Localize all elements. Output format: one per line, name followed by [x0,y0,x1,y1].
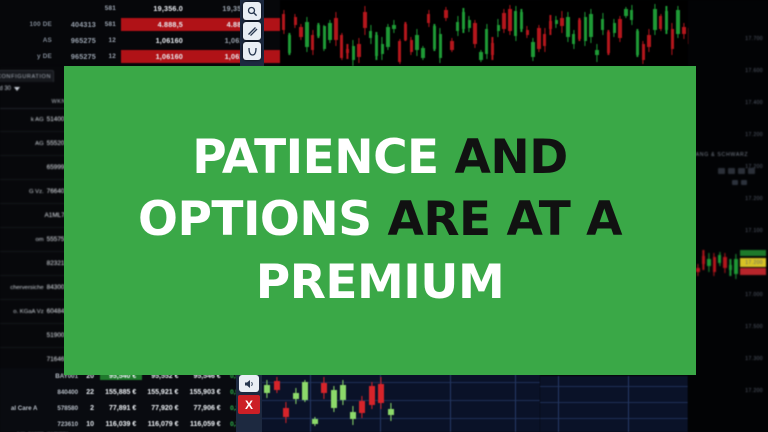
candlestick [636,29,639,57]
panel-icon[interactable] [728,168,735,174]
bottom-candlestick-chart[interactable] [250,368,540,432]
candlestick [363,6,366,34]
row-qty: 581 [100,5,121,12]
candlestick [404,22,407,41]
candlestick [456,16,459,36]
candlestick [647,29,650,52]
candlestick [537,25,540,52]
gridline [540,402,688,403]
row-ask: 116,079 € [142,421,184,428]
candlestick [479,50,482,63]
candlestick [578,18,581,41]
list-item[interactable]: 519000 [0,324,72,348]
row-ask: 155,921 € [142,389,184,396]
candlestick [653,4,656,35]
right-chart-panel[interactable]: LANG & SCHWARZ 17.70017.60017.40017.2001… [688,0,768,432]
row-bid: 4.888,5 [121,20,190,29]
candlestick [584,12,587,46]
row-ask: 77,920 € [142,405,184,412]
candlestick [392,20,395,33]
parallel-lines-icon[interactable] [243,22,261,40]
banner-headline: PATIENCE AND OPTIONS ARE AT A PREMIUM [138,127,622,313]
axis-tick-label: 17.200 [745,196,763,202]
candlestick [312,417,318,427]
gridline [558,376,559,432]
row-qty: 10 [81,421,100,428]
candlestick [340,380,346,405]
list-item[interactable]: 659990 [0,156,72,180]
list-item[interactable]: G Vz.766403 [0,180,72,204]
row-bid: 77,891 € [100,405,142,412]
candlestick [613,19,616,37]
candlestick [386,24,389,49]
chart-tool-palette[interactable] [240,0,264,70]
row-qty: 12 [100,37,121,44]
candlestick [264,380,270,398]
candlestick [375,32,378,60]
row-bid: 155,885 € [100,389,142,396]
candlestick [497,19,500,37]
index-dropdown-label: nd 30 [0,86,11,92]
table-row[interactable]: al Care A 578580 2 77,891 € 77,920 € 77,… [0,400,250,416]
candlestick [531,38,534,61]
row-wkn: 965275 [56,36,100,45]
candlestick [433,24,436,52]
candlestick [508,5,511,35]
axis-tick-label: 17.200 [745,164,763,170]
row-qty: 12 [100,53,121,60]
candlestick [274,377,280,393]
candlestick [595,44,598,62]
candlestick [642,41,645,64]
candlestick [415,29,418,56]
candlestick [369,382,375,410]
panel-icon[interactable] [732,180,738,185]
candlestick [388,403,394,420]
axis-tick-label: 17.200 [745,132,763,138]
quote-banner: PATIENCE AND OPTIONS ARE AT A PREMIUM [64,66,696,375]
candlestick [282,10,285,34]
row-wkn: 840400 [41,389,82,396]
candlestick [665,6,668,34]
candlestick [421,46,424,59]
row-qty: 22 [81,389,100,396]
candlestick [707,253,710,272]
candlestick [439,28,442,63]
row-wkn: 723610 [41,421,82,428]
axis-tick-label: 17.300 [745,356,763,362]
candlestick [462,8,465,32]
panel-icon[interactable] [718,168,725,174]
candlestick [381,37,384,59]
candlestick [369,25,372,44]
list-item[interactable]: k AG514000 [0,108,72,132]
row-last: 77,906 € [184,405,226,412]
row-name: y DE [0,53,56,60]
gridline [540,386,688,387]
headline-word-options: OPTIONS [138,192,372,247]
candlestick [350,406,356,426]
watchlist-item-label: k AG [31,117,44,123]
row-qty: 2 [81,405,100,412]
gridline [540,418,688,419]
candlestick [346,44,349,60]
candlestick [502,9,505,33]
candlestick [601,13,604,35]
candlestick [410,37,413,54]
price-tag-ask [740,268,766,275]
right-panel-title: LANG & SCHWARZ [692,152,748,158]
bottom-right-chart[interactable] [540,376,688,432]
headline-word-patience: PATIENCE [192,130,438,185]
row-name: 100 DE [0,21,56,28]
candlestick [702,250,705,269]
row-bid: 19,356.0 [121,4,190,13]
candlestick [682,23,685,39]
list-item[interactable]: 823212 [0,252,72,276]
close-icon[interactable]: X [238,395,260,414]
row-last: 155,903 € [184,389,226,396]
candlestick [334,12,337,46]
table-row[interactable]: 840400 22 155,885 € 155,921 € 155,903 € … [0,384,250,400]
candlestick [398,39,401,65]
candlestick [671,23,674,55]
candlestick [321,377,327,398]
panel-icon[interactable] [738,168,745,174]
price-tag-bid [740,250,766,256]
candlestick [520,9,523,33]
row-wkn: 965275 [56,52,100,61]
axis-tick-label: 17.600 [745,68,763,74]
candlestick [352,40,355,66]
candlestick [618,16,621,42]
candlestick [543,28,546,52]
candlestick [293,388,299,405]
candlestick [311,30,314,55]
speaker-icon[interactable] [239,375,259,392]
axis-tick-label: 17.100 [745,228,763,234]
axis-tick-label: 17.200 [745,388,763,394]
bottom-quote-grid[interactable]: BAY001 20 95,540 € 95,552 € 95,546 € 0,5… [0,368,250,432]
gridline [628,376,629,432]
candlestick [444,7,447,21]
candlestick [357,38,360,62]
candlestick [676,6,679,38]
candlestick [526,26,529,38]
headline-phrase-are-at-a: ARE AT A [387,192,622,247]
row-bid: 1,06160 [121,52,190,61]
candlestick [555,16,558,28]
axis-tick-label: 17.400 [745,100,763,106]
row-qty: 581 [100,21,121,28]
candlestick [734,254,737,280]
row-last: 116,059 € [184,421,226,428]
list-item[interactable]: cherversiche843002 [0,276,72,300]
list-item[interactable]: o. KGaA Vz604843 [0,300,72,324]
candlestick [624,7,627,18]
gridline [250,418,540,419]
headline-word-and: AND [455,130,568,185]
candlestick [473,20,476,48]
candlestick [713,253,716,275]
candlestick [729,259,732,275]
candlestick [718,252,721,266]
right-panel-candles [690,246,742,280]
candlestick [427,10,430,27]
row-bid: 1,06160 [121,36,190,45]
candlestick [340,33,343,60]
candlestick [468,16,471,32]
right-panel-toolbar-secondary[interactable] [732,180,747,185]
row-wkn: 578580 [41,405,82,412]
row-bid: 116,039 € [100,421,142,428]
axis-tick-label: 17.700 [745,36,763,42]
row-name: AS [0,37,56,44]
candlestick [359,396,365,418]
row-name: al Care A [0,405,41,412]
candlestick [491,37,494,60]
watchlist-item-label: AG [35,141,44,147]
candlestick [328,20,331,43]
candlestick [302,380,308,403]
list-item[interactable]: A1ML7J [0,204,72,228]
candlestick [317,23,320,38]
search-icon[interactable] [243,2,261,20]
candlestick [378,377,384,409]
candlestick [549,15,552,36]
screenshot-root: 581 19,356.019,356.019,356.0 0,33 % 100 … [0,0,768,432]
panel-icon[interactable] [741,180,747,185]
list-item[interactable]: om555750 [0,228,72,252]
row-wkn: 404313 [56,20,100,29]
candlestick [323,25,326,51]
candlestick [607,30,610,55]
candlestick [560,11,563,32]
list-item[interactable]: AG555200 [0,132,72,156]
candlestick [305,17,308,51]
candlestick [659,14,662,31]
candlestick [288,33,291,55]
index-dropdown[interactable]: nd 30 [0,84,52,94]
axis-tick-label: 17.200 [745,260,763,266]
gridline [250,382,540,383]
curve-icon[interactable] [243,42,261,60]
candlestick [723,253,726,273]
candlestick [630,5,633,25]
candlestick [299,24,302,40]
candlestick [331,386,337,411]
candlestick [485,24,488,59]
table-row[interactable]: 723610 10 116,039 € 116,079 € 116,059 € … [0,416,250,432]
candlestick [696,264,699,276]
candlestick [294,14,297,27]
headline-word-premium: PREMIUM [256,255,504,310]
axis-tick-label: 17.500 [745,324,763,330]
candlestick [589,9,592,43]
chevron-down-icon [14,87,20,91]
candlestick [572,30,575,49]
watchlist-item-label: o. KGaA Vz [13,309,43,315]
candlestick [514,6,517,41]
watchlist-item-label: cherversiche [10,285,43,291]
watchlist-item-label: om [35,237,43,243]
candlestick [283,402,289,424]
candlestick [450,38,453,52]
candlestick [566,12,569,43]
configuration-tab[interactable]: CONFIGURATION [0,70,54,82]
axis-tick-label: 17.000 [745,292,763,298]
watchlist-item-label: G Vz. [29,189,44,195]
